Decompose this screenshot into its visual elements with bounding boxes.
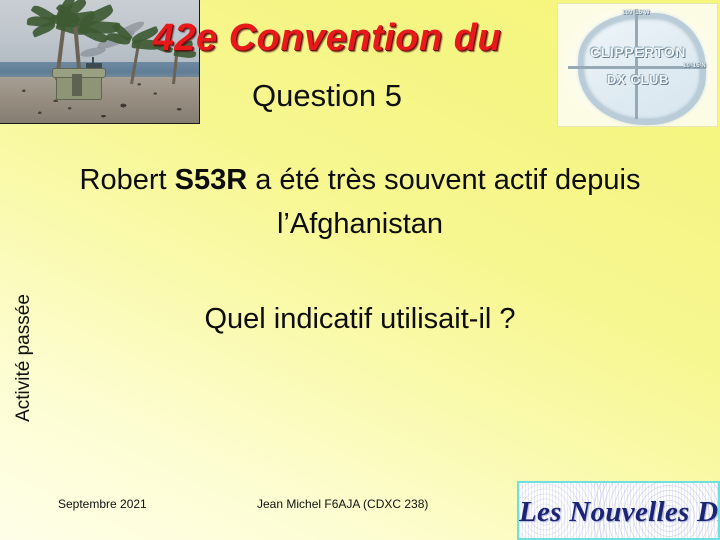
question-statement: Robert S53R a été très souvent actif dep… [40,158,680,246]
clipperton-dx-club-logo: 109°15'W 10°15'N CLIPPERTON DX CLUB [557,3,718,127]
logo-text-les-nouvelles-dx: Les Nouvelles DX [519,496,718,529]
page-title: 42e Convention du [92,17,562,60]
logo-coordinate-latitude: 10°15'N [683,63,706,69]
slide-canvas: 42e Convention du 109°15'W 10°15'N CLIPP… [0,0,720,540]
logo-coordinate-longitude: 109°15'W [622,10,650,16]
island-outline-icon [578,13,706,125]
side-category-label: Activité passée [13,258,35,458]
logo-text-dx-club: DX CLUB [577,72,699,87]
logo-text-clipperton: CLIPPERTON [577,44,699,60]
longitude-line-icon [635,9,638,119]
photo-tent-doorway [72,74,82,96]
footer-date: Septembre 2021 [58,497,147,511]
footer-author: Jean Michel F6AJA (CDXC 238) [257,497,428,511]
statement-prefix: Robert [80,164,175,196]
statement-suffix: a été très souvent actif depuis l’Afghan… [247,164,640,240]
les-nouvelles-dx-logo: Les Nouvelles DX [517,481,720,540]
statement-callsign: S53R [175,164,248,196]
question-prompt: Quel indicatif utilisait-il ? [40,303,680,336]
question-number-heading: Question 5 [92,78,562,114]
